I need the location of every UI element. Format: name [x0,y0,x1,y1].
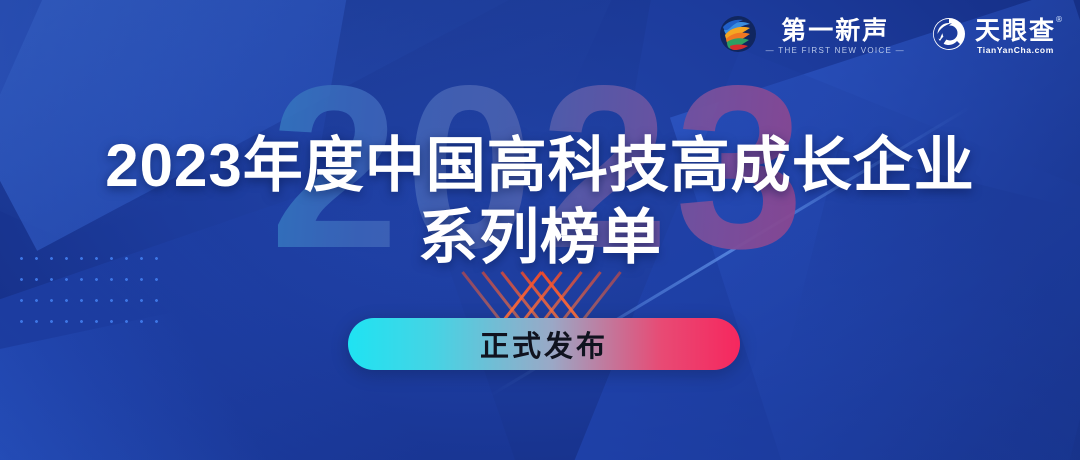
logo-diyixinsheng-cn: 第一新声 [781,18,889,43]
logo-tianyancha-text: 天眼查 ® TianYanCha.com [975,18,1056,55]
logo-bar: 第一新声 — THE FIRST NEW VOICE — 天眼查 ® [718,14,1056,59]
status-badge-released[interactable]: 正式发布 [348,318,740,370]
logo-diyixinsheng-text: 第一新声 — THE FIRST NEW VOICE — [766,18,905,55]
eye-lens-icon [931,16,967,57]
logo-diyixinsheng-en: — THE FIRST NEW VOICE — [766,47,905,55]
logo-diyixinsheng[interactable]: 第一新声 — THE FIRST NEW VOICE — [718,14,905,59]
headline-line-2: 系列榜单 [0,202,1080,274]
logo-tianyancha[interactable]: 天眼查 ® TianYanCha.com [931,16,1056,57]
pill-label: 正式发布 [480,323,608,365]
logo-tianyancha-cn-label: 天眼查 [975,16,1056,45]
registered-mark: ® [1055,16,1065,24]
poster-banner: 2023 2023年度中国高科技高成长企业 系列榜单 正式发布 [0,0,1080,460]
page-title: 2023年度中国高科技高成长企业 系列榜单 [0,130,1080,274]
swirl-globe-icon [718,14,758,59]
logo-tianyancha-en: TianYanCha.com [977,46,1054,55]
headline-line-1: 2023年度中国高科技高成长企业 [105,132,974,199]
logo-tianyancha-cn: 天眼查 ® [975,18,1056,43]
